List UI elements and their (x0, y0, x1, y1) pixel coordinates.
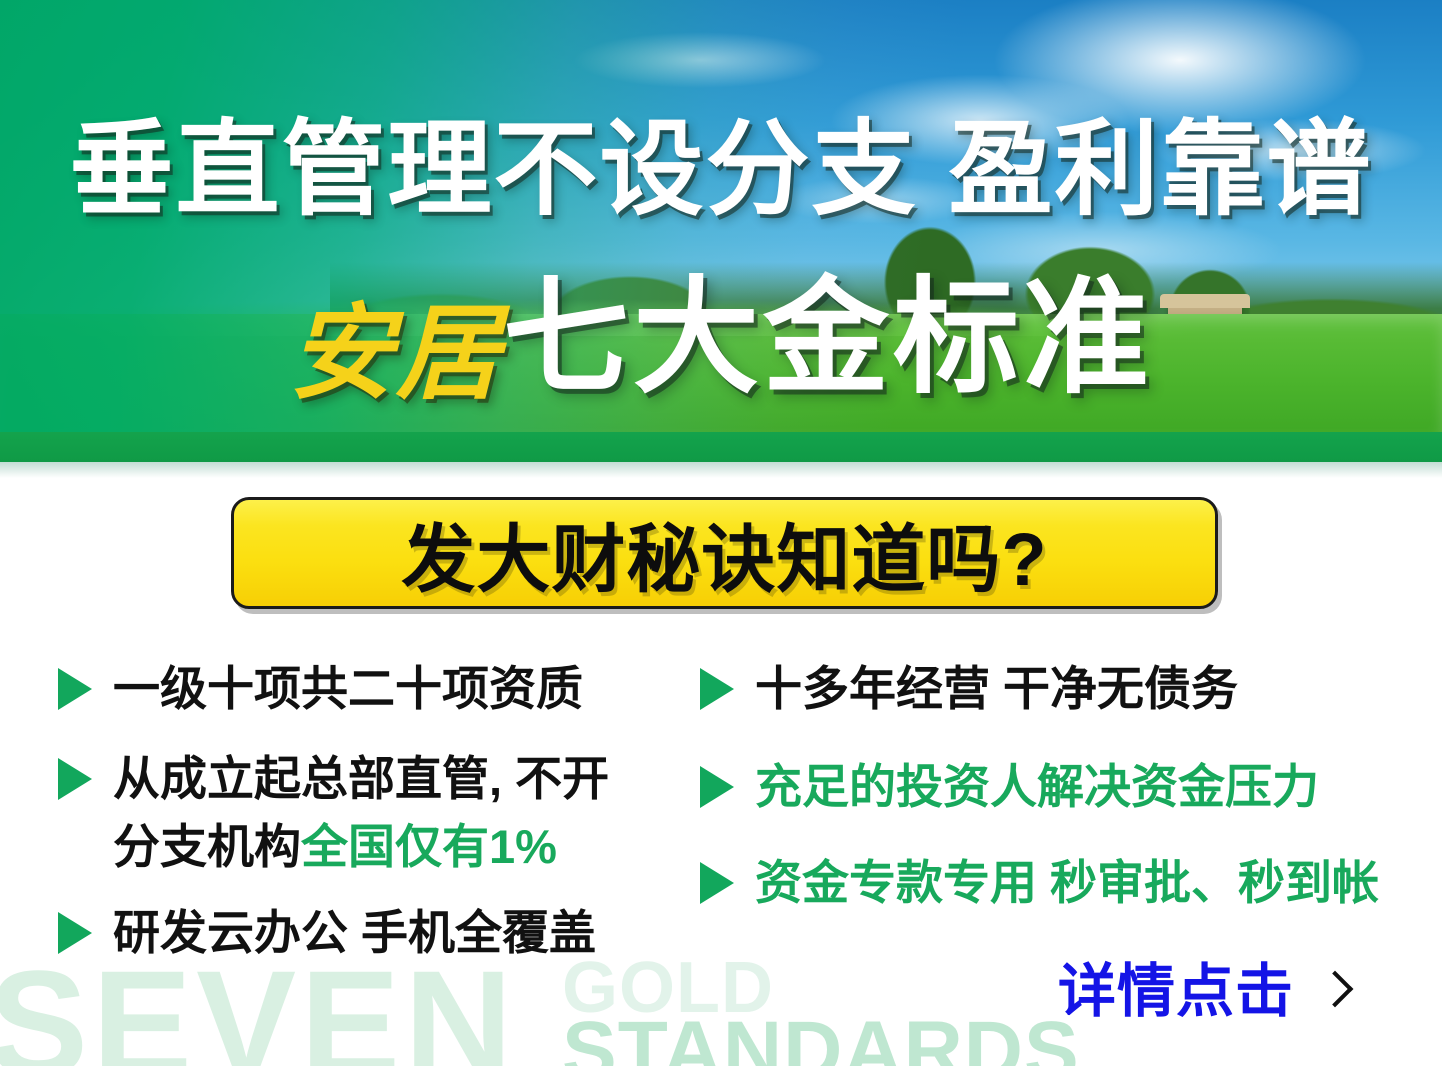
hero-headline-sub-text: 七大金标准 (503, 267, 1153, 408)
feature-text-left-3: 研发云办公 手机全覆盖 (113, 899, 596, 967)
advertisement-banner: 垂直管理不设分支 盈利靠谱 安居七大金标准 发大财秘诀知道吗? SEVEN GO… (0, 0, 1442, 1066)
triangle-bullet-icon (700, 766, 734, 808)
feature-list-section: 一级十项共二十项资质 从成立起总部直管, 不开 分支机构全国仅有1% 研发云办公… (0, 655, 1442, 995)
details-cta-label: 详情点击 (1058, 963, 1294, 1021)
triangle-bullet-icon (58, 912, 92, 954)
triangle-bullet-icon (58, 758, 92, 800)
triangle-bullet-icon (700, 862, 734, 904)
feature-item-left-2: 从成立起总部直管, 不开 分支机构全国仅有1% (58, 745, 698, 881)
feature-text-right-3: 资金专款专用 秒审批、秒到帐 (755, 849, 1379, 917)
feature-item-right-3: 资金专款专用 秒审批、秒到帐 (700, 849, 1420, 917)
yellow-callout-banner[interactable]: 发大财秘诀知道吗? (231, 497, 1218, 609)
hero-headline-primary: 垂直管理不设分支 盈利靠谱 (0, 118, 1442, 222)
hero-drop-shadow (0, 462, 1442, 478)
feature-text-left-2: 从成立起总部直管, 不开 分支机构全国仅有1% (113, 745, 609, 881)
feature-text-right-2: 充足的投资人解决资金压力 (755, 753, 1319, 821)
hero-section: 垂直管理不设分支 盈利靠谱 安居七大金标准 (0, 0, 1442, 462)
feature-text-left-2-highlight: 全国仅有1% (301, 820, 557, 873)
chevron-right-icon (1320, 970, 1346, 1014)
feature-item-right-2: 充足的投资人解决资金压力 (700, 753, 1420, 821)
watermark-standards-text: STANDARDS (562, 1010, 1080, 1066)
feature-text-left-1: 一级十项共二十项资质 (113, 655, 583, 723)
feature-item-left-1: 一级十项共二十项资质 (58, 655, 698, 723)
feature-item-left-3: 研发云办公 手机全覆盖 (58, 899, 698, 967)
details-cta-button[interactable]: 详情点击 (1058, 963, 1346, 1021)
triangle-bullet-icon (700, 668, 734, 710)
feature-text-right-1: 十多年经营 干净无债务 (755, 655, 1238, 723)
hero-headline-secondary: 安居七大金标准 (0, 278, 1442, 437)
feature-item-right-1: 十多年经营 干净无债务 (700, 655, 1420, 723)
hero-bottom-green-bar (0, 432, 1442, 462)
yellow-banner-label: 发大财秘诀知道吗? (401, 500, 1047, 607)
feature-column-right: 十多年经营 干净无债务 充足的投资人解决资金压力 资金专款专用 秒审批、秒到帐 (700, 655, 1420, 933)
feature-column-left: 一级十项共二十项资质 从成立起总部直管, 不开 分支机构全国仅有1% 研发云办公… (58, 655, 698, 983)
triangle-bullet-icon (58, 668, 92, 710)
brand-name-text: 安居 (289, 296, 503, 412)
